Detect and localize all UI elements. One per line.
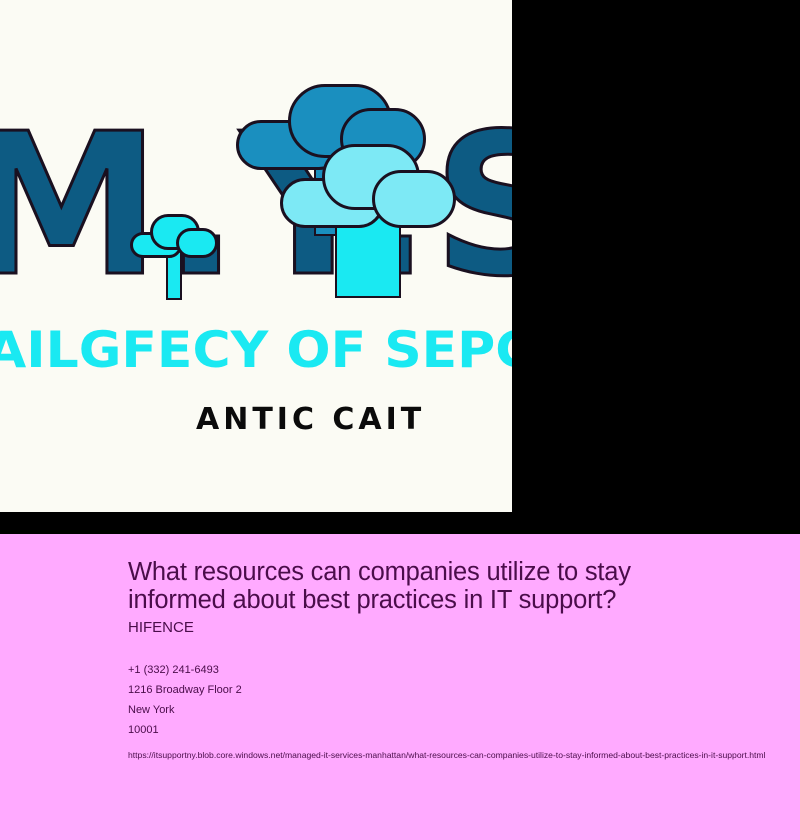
contact-block: +1 (332) 241-6493 1216 Broadway Floor 2 … <box>128 660 740 740</box>
page-title: What resources can companies utilize to … <box>128 558 728 614</box>
cloud-puff <box>176 228 218 258</box>
cloud-puff <box>372 170 456 228</box>
brand-name: HIFENCE <box>128 618 740 638</box>
page-root: M.Y.S AILGFECY OF S <box>0 0 800 840</box>
source-url[interactable]: https://itsupportny.blob.core.windows.ne… <box>128 744 800 766</box>
hero-tagline: AILGFECY OF SEPCCT <box>0 322 512 378</box>
contact-city: New York <box>128 700 740 720</box>
contact-postal-code: 10001 <box>128 720 740 740</box>
article-panel: What resources can companies utilize to … <box>0 534 800 840</box>
hero-logo-artwork: M.Y.S AILGFECY OF S <box>0 0 512 512</box>
cloud-tree-small-cyan-icon <box>130 214 218 256</box>
hero-banner: M.Y.S AILGFECY OF S <box>0 0 800 534</box>
cloud-tree-large-cyan-icon <box>280 144 456 222</box>
contact-street: 1216 Broadway Floor 2 <box>128 680 740 700</box>
hero-subtagline: ANTIC CAIT <box>196 400 425 440</box>
contact-phone[interactable]: +1 (332) 241-6493 <box>128 660 740 680</box>
